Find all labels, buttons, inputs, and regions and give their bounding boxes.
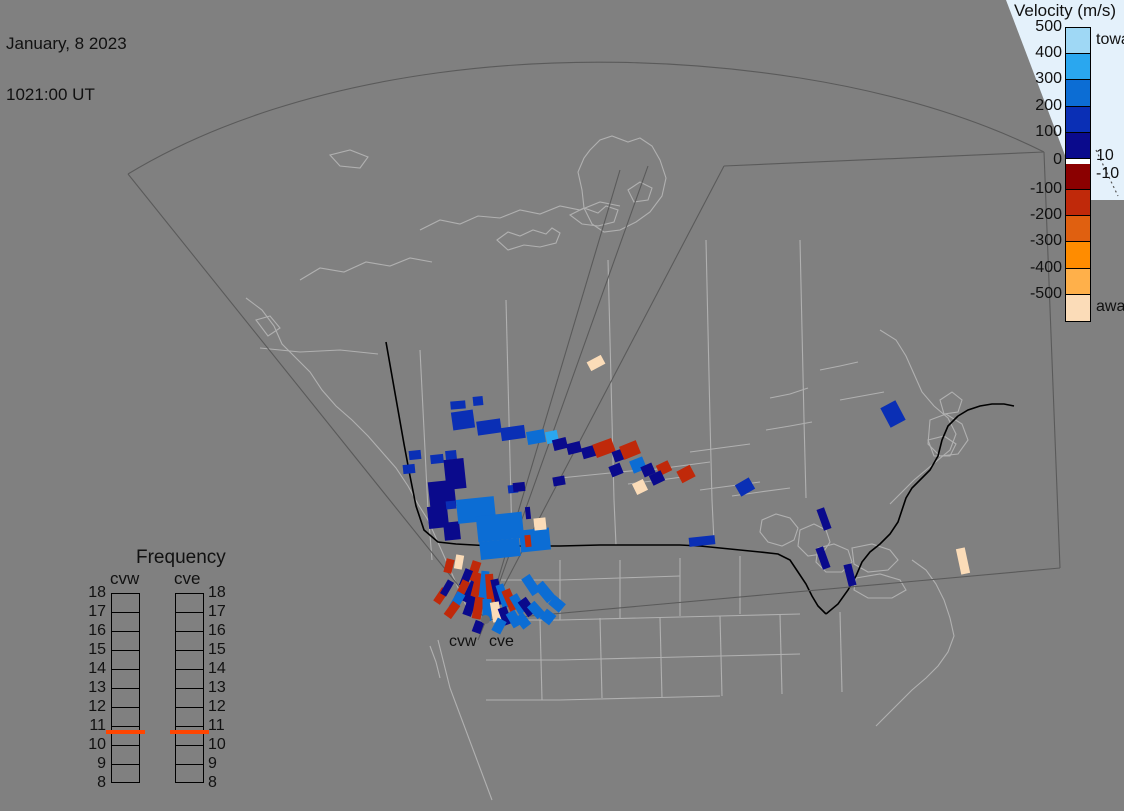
frequency-tick-cve-13: 13 bbox=[208, 679, 232, 697]
velocity-cell bbox=[430, 454, 444, 464]
velocity-cell bbox=[409, 450, 422, 460]
velocity-cell bbox=[443, 558, 454, 574]
frequency-tick-cvw-13: 13 bbox=[82, 679, 106, 697]
colorbar-zero-upper-label: 10 bbox=[1096, 147, 1114, 165]
frequency-segment-9 bbox=[112, 765, 139, 784]
velocity-cell bbox=[476, 512, 524, 543]
colorbar-segment-9 bbox=[1066, 269, 1090, 295]
frequency-column-header-cve: cve bbox=[174, 569, 200, 589]
colorbar-away-label: away bbox=[1096, 298, 1124, 316]
velocity-cell bbox=[815, 546, 830, 569]
colorbar-segment-8 bbox=[1066, 242, 1090, 268]
colorbar-segment-1 bbox=[1066, 54, 1090, 80]
frequency-segment-2 bbox=[112, 632, 139, 651]
frequency-tick-cve-12: 12 bbox=[208, 698, 232, 716]
frequency-tick-cve-10: 10 bbox=[208, 736, 232, 754]
frequency-tick-cvw-8: 8 bbox=[82, 774, 106, 792]
frequency-tick-cve-14: 14 bbox=[208, 660, 232, 678]
frequency-segment-0 bbox=[112, 594, 139, 613]
frequency-segment-1 bbox=[112, 613, 139, 632]
frequency-tick-cvw-16: 16 bbox=[82, 622, 106, 640]
timestamp-date: January, 8 2023 bbox=[6, 35, 127, 52]
frequency-tick-cve-18: 18 bbox=[208, 584, 232, 602]
frequency-tick-cvw-15: 15 bbox=[82, 641, 106, 659]
frequency-column-header-cvw: cvw bbox=[110, 569, 139, 589]
colorbar-segment-2 bbox=[1066, 80, 1090, 106]
frequency-marker-cvw bbox=[106, 730, 145, 734]
frequency-segment-6 bbox=[112, 708, 139, 727]
frequency-legend: Frequency cvw18171615141312111098 cve181… bbox=[84, 547, 244, 787]
colorbar-tick-500: 500 bbox=[1035, 18, 1062, 36]
frequency-segment-8 bbox=[176, 746, 203, 765]
frequency-segment-5 bbox=[176, 689, 203, 708]
colorbar-tick-0: 0 bbox=[1053, 151, 1062, 169]
colorbar-segment-3 bbox=[1066, 107, 1090, 133]
frequency-scale-cve[interactable] bbox=[175, 593, 204, 783]
velocity-legend-title: Velocity (m/s) bbox=[1014, 1, 1116, 21]
frequency-scale-cvw[interactable] bbox=[111, 593, 140, 783]
colorbar-tick-200: 200 bbox=[1035, 97, 1062, 115]
velocity-cell bbox=[956, 547, 970, 574]
frequency-segment-6 bbox=[176, 708, 203, 727]
colorbar-tick--300: -300 bbox=[1030, 232, 1062, 250]
frequency-segment-3 bbox=[112, 651, 139, 670]
velocity-cell bbox=[632, 479, 648, 495]
velocity-cell bbox=[451, 410, 475, 431]
site-label-cvw: cvw bbox=[449, 633, 477, 651]
velocity-cell bbox=[403, 464, 416, 474]
velocity-cell bbox=[445, 450, 457, 460]
velocity-cell bbox=[587, 355, 606, 371]
colorbar-toward-label: toward bbox=[1096, 31, 1124, 49]
frequency-tick-cve-9: 9 bbox=[208, 755, 232, 773]
colorbar-tick--500: -500 bbox=[1030, 285, 1062, 303]
velocity-legend: Velocity (m/s) 5004003002001000-100-200-… bbox=[1006, 0, 1124, 330]
colorbar-segment-0 bbox=[1066, 28, 1090, 54]
velocity-cell bbox=[454, 554, 464, 569]
velocity-cell bbox=[476, 418, 502, 435]
colorbar-tick-100: 100 bbox=[1035, 123, 1062, 141]
frequency-segment-9 bbox=[176, 765, 203, 784]
velocity-cell bbox=[843, 563, 856, 586]
colorbar-segment-6 bbox=[1066, 190, 1090, 216]
frequency-segment-2 bbox=[176, 632, 203, 651]
velocity-cell bbox=[533, 517, 546, 530]
colorbar-segment-5 bbox=[1066, 164, 1090, 190]
velocity-cell bbox=[880, 400, 905, 427]
frequency-tick-cvw-10: 10 bbox=[82, 736, 106, 754]
velocity-cell bbox=[689, 535, 716, 547]
colorbar-tick--200: -200 bbox=[1030, 206, 1062, 224]
frequency-tick-cvw-18: 18 bbox=[82, 584, 106, 602]
velocity-colorbar[interactable] bbox=[1065, 27, 1091, 322]
frequency-segment-3 bbox=[176, 651, 203, 670]
frequency-tick-cve-17: 17 bbox=[208, 603, 232, 621]
frequency-segment-4 bbox=[112, 670, 139, 689]
frequency-tick-cvw-17: 17 bbox=[82, 603, 106, 621]
frequency-tick-cve-11: 11 bbox=[208, 717, 232, 735]
colorbar-zero-lower-label: -10 bbox=[1096, 165, 1119, 183]
colorbar-segment-4 bbox=[1066, 133, 1090, 159]
frequency-segment-0 bbox=[176, 594, 203, 613]
frequency-tick-cve-8: 8 bbox=[208, 774, 232, 792]
radar-site-dot bbox=[481, 615, 490, 624]
velocity-cell bbox=[608, 463, 623, 478]
timestamp-time: 1021:00 UT bbox=[6, 86, 127, 103]
velocity-cell bbox=[443, 521, 461, 541]
velocity-cell bbox=[816, 507, 831, 530]
velocity-cell bbox=[525, 507, 531, 519]
velocity-cell bbox=[676, 465, 695, 484]
frequency-segment-1 bbox=[176, 613, 203, 632]
colorbar-segment-10 bbox=[1066, 295, 1090, 321]
velocity-cell bbox=[552, 476, 565, 487]
frequency-tick-cvw-9: 9 bbox=[82, 755, 106, 773]
colorbar-tick--100: -100 bbox=[1030, 180, 1062, 198]
velocity-cell bbox=[524, 535, 531, 548]
velocity-cell bbox=[566, 441, 582, 455]
radar-map-view: cvw cve January, 8 2023 1021:00 UT Veloc… bbox=[0, 0, 1124, 811]
frequency-segment-4 bbox=[176, 670, 203, 689]
frequency-tick-cve-16: 16 bbox=[208, 622, 232, 640]
velocity-cell bbox=[450, 400, 466, 409]
colorbar-segment-7 bbox=[1066, 216, 1090, 242]
velocity-cell bbox=[519, 527, 551, 552]
frequency-legend-title: Frequency bbox=[136, 547, 226, 569]
colorbar-tick-300: 300 bbox=[1035, 70, 1062, 88]
colorbar-tick--400: -400 bbox=[1030, 259, 1062, 277]
frequency-tick-cvw-12: 12 bbox=[82, 698, 106, 716]
timestamp: January, 8 2023 1021:00 UT bbox=[6, 1, 127, 137]
velocity-cell bbox=[526, 429, 546, 445]
frequency-tick-cvw-11: 11 bbox=[82, 717, 106, 735]
frequency-tick-cve-15: 15 bbox=[208, 641, 232, 659]
colorbar-tick-400: 400 bbox=[1035, 44, 1062, 62]
velocity-cell bbox=[500, 425, 526, 441]
site-label-cve: cve bbox=[489, 633, 514, 651]
frequency-segment-5 bbox=[112, 689, 139, 708]
velocity-cell bbox=[446, 500, 457, 509]
velocity-cell bbox=[735, 477, 755, 496]
frequency-segment-8 bbox=[112, 746, 139, 765]
velocity-cell bbox=[513, 482, 526, 492]
frequency-tick-cvw-14: 14 bbox=[82, 660, 106, 678]
frequency-marker-cve bbox=[170, 730, 209, 734]
velocity-cell bbox=[473, 396, 484, 406]
